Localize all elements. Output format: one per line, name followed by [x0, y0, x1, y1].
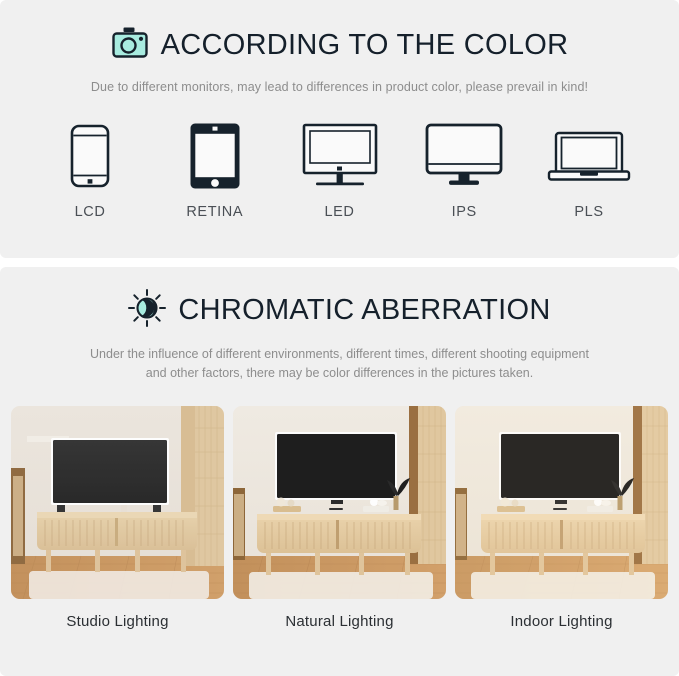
chromatic-aberration-card: CHROMATIC ABERRATION Under the influence… — [0, 267, 679, 676]
device-item-lcd: LCD — [42, 120, 138, 220]
device-item-led: LED — [292, 120, 388, 220]
product-info-page: ACCORDING TO THE COLOR Due to different … — [0, 0, 679, 676]
device-label-pls: PLS — [574, 204, 603, 220]
color-section-subtitle: Due to different monitors, may lead to d… — [0, 80, 679, 94]
device-label-lcd: LCD — [75, 204, 106, 220]
according-to-color-card: ACCORDING TO THE COLOR Due to different … — [0, 0, 679, 258]
device-item-retina: RETINA — [167, 120, 263, 220]
sun-moon-icon — [128, 289, 166, 332]
photo-caption-studio: Studio Lighting — [66, 613, 168, 630]
card-divider-gap — [0, 258, 679, 267]
device-label-led: LED — [324, 204, 354, 220]
phone-icon — [70, 120, 110, 192]
photo-caption-indoor: Indoor Lighting — [510, 613, 612, 630]
photo-cell-indoor: Indoor Lighting — [455, 406, 668, 630]
room-scene-natural — [233, 406, 446, 599]
tablet-icon — [189, 120, 241, 192]
room-scene-indoor — [455, 406, 668, 599]
device-item-ips: IPS — [416, 120, 512, 220]
device-label-retina: RETINA — [186, 204, 243, 220]
photo-frame-studio[interactable] — [11, 406, 224, 599]
photo-cell-studio: Studio Lighting — [11, 406, 224, 630]
device-label-ips: IPS — [452, 204, 477, 220]
camera-icon — [111, 26, 149, 65]
photo-caption-natural: Natural Lighting — [285, 613, 393, 630]
photo-frame-natural[interactable] — [233, 406, 446, 599]
aberration-subtitle-line-2: and other factors, there may be color di… — [12, 364, 667, 383]
photo-cell-natural: Natural Lighting — [233, 406, 446, 630]
photo-frame-indoor[interactable] — [455, 406, 668, 599]
aberration-section-title: CHROMATIC ABERRATION — [178, 294, 550, 327]
device-list: LCD RETINA — [0, 120, 679, 220]
photo-comparison-row: Studio Lighting — [0, 406, 679, 630]
room-scene-studio — [11, 406, 224, 599]
imac-icon — [425, 120, 503, 192]
monitor-icon — [302, 120, 378, 192]
color-section-title: ACCORDING TO THE COLOR — [161, 29, 569, 62]
aberration-section-subtitle: Under the influence of different environ… — [0, 345, 679, 384]
device-item-pls: PLS — [541, 120, 637, 220]
laptop-icon — [546, 120, 632, 192]
aberration-subtitle-line-1: Under the influence of different environ… — [12, 345, 667, 364]
aberration-section-heading: CHROMATIC ABERRATION — [0, 287, 679, 333]
color-section-heading: ACCORDING TO THE COLOR — [0, 22, 679, 68]
